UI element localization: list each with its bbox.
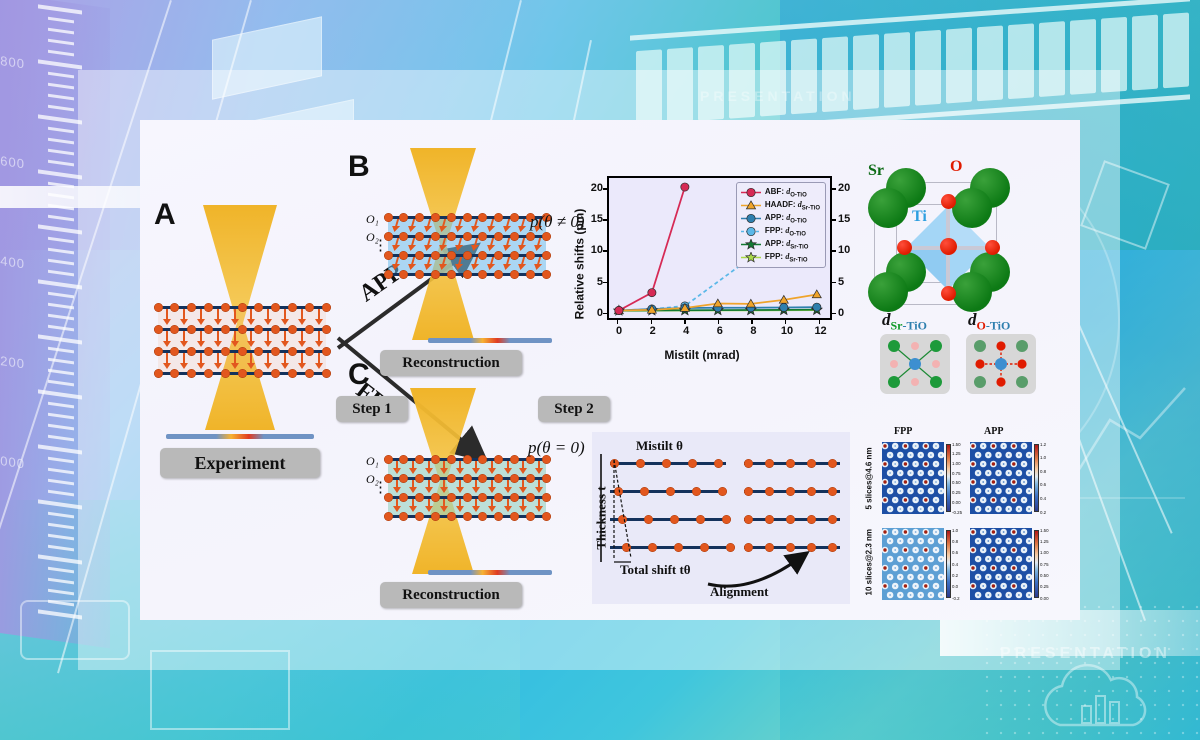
sr-label: Sr <box>868 162 884 180</box>
lattice-atom <box>431 213 440 222</box>
displacement-arrow <box>250 309 252 320</box>
displacement-arrow <box>234 353 236 364</box>
displacement-arrow <box>183 353 185 364</box>
displacement-arrow <box>284 353 286 364</box>
displacement-arrow <box>234 309 236 320</box>
chart-y-tick-right: 5 <box>838 276 854 288</box>
ptycho-row-label-5slices: 5 slices@4.6 nm <box>865 448 874 510</box>
lattice-atom <box>204 347 213 356</box>
lattice-atom <box>221 303 230 312</box>
ptycho-colorbar-tick: -0.25 <box>952 510 962 515</box>
lattice-atom <box>447 270 456 279</box>
chart-data-point <box>812 290 821 298</box>
step2-atom <box>765 487 774 496</box>
displacement-arrow <box>522 499 524 507</box>
step2-mistilt-label: Mistilt θ <box>636 438 683 454</box>
lattice-atom <box>288 369 297 378</box>
chart-x-tickmark <box>785 320 786 324</box>
ptycho-colorbar <box>1034 444 1039 512</box>
lattice-atom <box>542 474 551 483</box>
lattice-atom <box>288 303 297 312</box>
lattice-atom <box>510 512 519 521</box>
ptycho-lattice-render <box>882 528 944 600</box>
background-ruler-number: 2400 <box>0 252 25 272</box>
displacement-arrow <box>507 461 509 469</box>
displacement-arrow <box>166 309 168 320</box>
chart-legend-marker <box>740 187 762 198</box>
displacement-arrow <box>284 309 286 320</box>
o-atom <box>941 194 956 209</box>
chart-data-point <box>813 303 821 311</box>
chart-x-tickmark <box>617 320 618 324</box>
cloud-icon <box>1030 660 1180 740</box>
displacement-arrow <box>538 461 540 469</box>
chart-x-tick: 8 <box>746 325 760 337</box>
ptycho-colorbar-tick: 1.25 <box>952 451 961 456</box>
displacement-arrow <box>166 353 168 364</box>
panel-b-o1-label: O₁ <box>366 212 379 227</box>
chart-legend-marker <box>740 226 762 237</box>
lattice-atom <box>447 455 456 464</box>
ptycho-colorbar-tick: 0.4 <box>952 562 958 567</box>
lattice-atom <box>526 270 535 279</box>
lattice-atom <box>431 251 440 260</box>
lattice-atom <box>463 270 472 279</box>
ptycho-col-title-fpp: FPP <box>894 426 912 437</box>
chart-legend-item: ABF: dO-TiO <box>740 186 820 199</box>
panel-c-probe-state: p(θ = 0) <box>528 438 585 458</box>
chart-legend-label: APP: dSr-TiO <box>765 239 809 251</box>
chart-legend-item: APP: dSr-TiO <box>740 238 820 251</box>
lattice-atom <box>526 512 535 521</box>
chart-x-tickmark <box>718 320 719 324</box>
relative-shifts-chart: Relative shifts (pm) Mistilt (mrad) ABF:… <box>562 168 842 360</box>
ptycho-colorbar-tick: 0.2 <box>1040 510 1046 515</box>
lattice-atom <box>510 474 519 483</box>
step2-shift-guides <box>608 458 648 570</box>
ptycho-colorbar-tick: 0.25 <box>1040 584 1049 589</box>
lattice-atom <box>204 325 213 334</box>
background-ruler-number: 2600 <box>0 152 25 172</box>
displacement-arrow <box>428 480 430 488</box>
lattice-atom <box>305 325 314 334</box>
chart-data-point <box>648 289 656 297</box>
lattice-atom <box>204 303 213 312</box>
ptycho-colorbar-tick: 0.50 <box>952 480 961 485</box>
step2-atom <box>674 543 683 552</box>
chart-y-tick: 5 <box>587 276 603 288</box>
chart-x-tick: 4 <box>679 325 693 337</box>
lattice-atom <box>510 251 519 260</box>
chart-y-tick-right: 20 <box>838 182 854 194</box>
chart-legend-item: HAADF: dSr-TiO <box>740 199 820 212</box>
displacement-arrow <box>267 353 269 364</box>
step2-atom <box>688 459 697 468</box>
chart-y-tickmark-right <box>832 219 836 220</box>
displacement-arrow <box>250 331 252 342</box>
chart-data-point <box>747 227 755 235</box>
lattice-atom <box>447 493 456 502</box>
lattice-atom <box>221 325 230 334</box>
displacement-arrow <box>250 353 252 364</box>
step2-atom <box>765 459 774 468</box>
lattice-atom <box>463 455 472 464</box>
ptycho-colorbar-tick: 1.50 <box>952 442 961 447</box>
lattice-atom <box>238 325 247 334</box>
ptycho-colorbar-tick: 0.8 <box>952 539 958 544</box>
displacement-arrow <box>428 461 430 469</box>
panel-c-ellipsis: ⋮ <box>373 486 390 491</box>
ptycho-colorbar-tick: 0.8 <box>1040 469 1046 474</box>
lattice-atom <box>384 270 393 279</box>
displacement-arrow <box>396 461 398 469</box>
panel-a-caption: Experiment <box>160 448 320 478</box>
chart-y-tick-right: 0 <box>838 307 854 319</box>
ptycho-colorbar-tick: 1.00 <box>952 461 961 466</box>
step2-atom <box>666 487 675 496</box>
displacement-arrow <box>507 480 509 488</box>
step2-atom <box>670 515 679 524</box>
chart-y-tickmark <box>603 282 607 283</box>
background-ruler-number: 2200 <box>0 352 25 372</box>
lattice-atom <box>510 213 519 222</box>
chart-x-tick: 12 <box>814 325 828 337</box>
displacement-arrow <box>491 499 493 507</box>
d-spacing-schematic <box>880 334 950 394</box>
lattice-atom <box>463 232 472 241</box>
step2-atom <box>807 515 816 524</box>
chart-legend-marker <box>740 239 762 250</box>
chart-legend-item: APP: dO-TiO <box>740 212 820 225</box>
lattice-atom <box>447 251 456 260</box>
chart-x-tick: 0 <box>612 325 626 337</box>
chart-legend-marker <box>740 252 762 263</box>
displacement-arrow <box>443 461 445 469</box>
displacement-arrow <box>200 331 202 342</box>
ti-label: Ti <box>912 208 927 226</box>
ptycho-colorbar-tick: 0.00 <box>952 500 961 505</box>
displacement-arrow <box>475 461 477 469</box>
chart-legend-item: FPP: dO-TiO <box>740 225 820 238</box>
lattice-atom <box>204 369 213 378</box>
lattice-atom <box>431 232 440 241</box>
chart-x-tickmark <box>684 320 685 324</box>
chart-legend: ABF: dO-TiOHAADF: dSr-TiOAPP: dO-TiOFPP:… <box>736 182 826 268</box>
ptycho-colorbar-tick: 1.2 <box>1040 442 1046 447</box>
lattice-atom <box>463 251 472 260</box>
step2-atom <box>828 459 837 468</box>
o-label: O <box>950 158 962 176</box>
lattice-atom <box>288 347 297 356</box>
sr-atom <box>868 272 908 312</box>
lattice-atom <box>510 232 519 241</box>
panel-c-letter: C <box>348 358 370 392</box>
displacement-arrow <box>301 309 303 320</box>
displacement-arrow <box>459 480 461 488</box>
displacement-arrow <box>396 499 398 507</box>
displacement-arrow <box>200 309 202 320</box>
o-atom-center <box>940 238 957 255</box>
ptycho-colorbar-tick: 1.50 <box>1040 528 1049 533</box>
ptycho-colorbar-tick: -0.2 <box>952 596 960 601</box>
lattice-atom <box>238 347 247 356</box>
ptycho-colorbar <box>946 530 951 598</box>
panel-c-detector <box>428 570 552 575</box>
lattice-atom <box>526 474 535 483</box>
ptycho-colorbar-tick: 0.4 <box>1040 496 1046 501</box>
chart-x-tick: 10 <box>780 325 794 337</box>
displacement-arrow <box>443 480 445 488</box>
lattice-atom <box>463 512 472 521</box>
lattice-atom <box>447 213 456 222</box>
background-bar <box>1132 15 1158 91</box>
lattice-atom <box>238 369 247 378</box>
lattice-atom <box>384 512 393 521</box>
displacement-arrow <box>318 309 320 320</box>
chart-y-tick-right: 15 <box>838 213 854 225</box>
step2-atom <box>744 515 753 524</box>
displacement-arrow <box>183 331 185 342</box>
displacement-arrow <box>459 461 461 469</box>
ptycho-colorbar-tick: 0.75 <box>1040 562 1049 567</box>
chart-x-tickmark <box>651 320 652 324</box>
ptychography-image-grid: FPP APP 5 slices@4.6 nm 10 slices@2.3 nm… <box>858 428 1054 606</box>
sr-atom <box>952 188 992 228</box>
ptycho-image <box>970 442 1032 514</box>
figure-canvas: 28002600240022002000 PRESENTATION PRESEN… <box>0 0 1200 740</box>
step2-atom <box>696 515 705 524</box>
lattice-atom <box>526 232 535 241</box>
chart-data-point <box>746 252 756 262</box>
displacement-arrow <box>491 480 493 488</box>
ptycho-colorbar-tick: 0.00 <box>1040 596 1049 601</box>
lattice-atom <box>494 512 503 521</box>
lattice-atom <box>221 369 230 378</box>
lattice-atom <box>447 512 456 521</box>
step2-atom <box>662 459 671 468</box>
chart-y-tick: 15 <box>587 213 603 225</box>
displacement-arrow <box>217 309 219 320</box>
lattice-atom <box>288 325 297 334</box>
chart-x-axis-label: Mistilt (mrad) <box>562 348 842 362</box>
ptycho-colorbar-tick: 1.25 <box>1040 539 1049 544</box>
lattice-atom <box>542 232 551 241</box>
chart-x-tickmark <box>819 320 820 324</box>
lattice-atom <box>384 455 393 464</box>
lattice-atom <box>305 303 314 312</box>
ptycho-colorbar-tick: 1.0 <box>1040 455 1046 460</box>
chart-legend-item: FPP: dSr-TiO <box>740 251 820 264</box>
d-spacing-title: dSr-TiO <box>882 310 927 333</box>
ptycho-colorbar-tick: 0.2 <box>952 573 958 578</box>
ptycho-colorbar-tick: 0.6 <box>952 550 958 555</box>
chart-y-tickmark-right <box>832 313 836 314</box>
chart-x-tick: 6 <box>713 325 727 337</box>
displacement-arrow <box>507 499 509 507</box>
ptycho-col-title-app: APP <box>984 426 1003 437</box>
ptycho-colorbar-tick: 1.00 <box>1040 550 1049 555</box>
chart-x-tickmark <box>751 320 752 324</box>
chart-y-tickmark-right <box>832 250 836 251</box>
displacement-arrow <box>217 331 219 342</box>
lattice-atom <box>542 512 551 521</box>
lattice-atom <box>154 303 163 312</box>
chart-y-tick: 20 <box>587 182 603 194</box>
chart-legend-label: HAADF: dSr-TiO <box>765 200 820 212</box>
displacement-arrow <box>217 353 219 364</box>
displacement-arrow <box>318 331 320 342</box>
displacement-arrow <box>538 480 540 488</box>
displacement-arrow <box>183 309 185 320</box>
lattice-atom <box>431 270 440 279</box>
ptycho-image <box>970 528 1032 600</box>
chart-legend-label: ABF: dO-TiO <box>765 187 807 199</box>
ptycho-colorbar-tick: 0.6 <box>1040 482 1046 487</box>
step2-atom <box>828 543 837 552</box>
lattice-atom <box>431 512 440 521</box>
step2-atom <box>828 487 837 496</box>
lattice-atom <box>526 493 535 502</box>
chart-y-tick-right: 10 <box>838 244 854 256</box>
chart-legend-label: FPP: dO-TiO <box>765 226 806 238</box>
displacement-arrow <box>412 499 414 507</box>
d-spacing-title: dO-TiO <box>968 310 1010 333</box>
ptycho-lattice-render <box>882 442 944 514</box>
lattice-atom <box>305 347 314 356</box>
chart-y-tickmark-right <box>832 282 836 283</box>
background-bar <box>1163 12 1189 88</box>
lattice-atom <box>431 493 440 502</box>
sr-atom <box>952 272 992 312</box>
lattice-atom <box>463 213 472 222</box>
displacement-arrow <box>522 461 524 469</box>
chart-y-tickmark <box>603 219 607 220</box>
lattice-atom <box>542 270 551 279</box>
panel-c-caption: Reconstruction <box>380 582 522 608</box>
displacement-arrow <box>412 461 414 469</box>
chart-y-axis-label: Relative shifts (pm) <box>572 209 586 320</box>
chart-data-point <box>746 239 756 249</box>
ptycho-colorbar-tick: 0.50 <box>1040 573 1049 578</box>
step2-atom <box>722 515 731 524</box>
displacement-arrow <box>166 331 168 342</box>
background-ruler-number: 2800 <box>0 52 25 72</box>
chart-legend-marker <box>740 213 762 224</box>
ptycho-image <box>882 442 944 514</box>
lattice-atom <box>447 474 456 483</box>
displacement-arrow <box>318 353 320 364</box>
panel-a-detector <box>166 434 314 439</box>
step2-atom <box>786 459 795 468</box>
lattice-atom <box>431 455 440 464</box>
chart-legend-label: FPP: dSr-TiO <box>765 252 808 264</box>
lattice-atom <box>510 493 519 502</box>
lattice-atom <box>510 455 519 464</box>
displacement-arrow <box>267 331 269 342</box>
step2-atom <box>786 487 795 496</box>
panel-a-letter: A <box>154 198 176 232</box>
displacement-arrow <box>491 461 493 469</box>
displacement-arrow <box>200 353 202 364</box>
chart-y-tickmark <box>603 313 607 314</box>
step2-atom <box>786 515 795 524</box>
chart-y-tickmark <box>603 188 607 189</box>
ptycho-colorbar-tick: 0.25 <box>952 490 961 495</box>
displacement-arrow <box>538 499 540 507</box>
ptycho-lattice-render <box>970 528 1032 600</box>
ptycho-colorbar-tick: 0.75 <box>952 471 961 476</box>
displacement-arrow <box>396 480 398 488</box>
ptycho-colorbar <box>946 444 951 512</box>
lattice-atom <box>154 347 163 356</box>
step2-label: Step 2 <box>538 396 610 422</box>
step2-atom <box>648 543 657 552</box>
lattice-atom <box>154 325 163 334</box>
o-atom <box>941 286 956 301</box>
chart-y-tickmark <box>603 250 607 251</box>
lattice-atom <box>447 232 456 241</box>
chart-y-tick: 10 <box>587 244 603 256</box>
lattice-atom <box>510 270 519 279</box>
displacement-arrow <box>412 480 414 488</box>
lattice-atom <box>463 474 472 483</box>
displacement-arrow <box>475 499 477 507</box>
d-spacing-schematic <box>966 334 1036 394</box>
step2-alignment-diagram: Mistilt θ Thickness t Total shift tθ Ali… <box>592 432 850 604</box>
step2-atom <box>714 459 723 468</box>
o-atom <box>897 240 912 255</box>
chart-y-tick: 0 <box>587 307 603 319</box>
displacement-arrow <box>301 331 303 342</box>
panel-b-ellipsis: ⋮ <box>373 244 390 249</box>
displacement-arrow <box>234 331 236 342</box>
chart-data-point <box>681 183 689 191</box>
displacement-arrow <box>475 480 477 488</box>
chart-data-point <box>780 303 788 311</box>
chart-data-point <box>747 214 755 222</box>
displacement-arrow <box>428 499 430 507</box>
step2-atom <box>744 459 753 468</box>
panel-b-caption: Reconstruction <box>380 350 522 376</box>
lattice-atom <box>431 474 440 483</box>
sr-atom <box>868 188 908 228</box>
chart-plot-area: ABF: dO-TiOHAADF: dSr-TiOAPP: dO-TiOFPP:… <box>607 176 832 320</box>
panel-b-detector <box>428 338 552 343</box>
step2-atom <box>765 515 774 524</box>
ptycho-colorbar <box>1034 530 1039 598</box>
displacement-arrow <box>459 499 461 507</box>
ptycho-colorbar-tick: 1.0 <box>952 528 958 533</box>
o-atom <box>985 240 1000 255</box>
lattice-atom <box>494 270 503 279</box>
chart-x-tick: 2 <box>646 325 660 337</box>
ptycho-colorbar-tick: 0.0 <box>952 584 958 589</box>
displacement-arrow <box>267 309 269 320</box>
thickness-bar <box>600 454 602 562</box>
step2-atom <box>807 487 816 496</box>
step2-atom <box>718 487 727 496</box>
chart-legend-label: APP: dO-TiO <box>765 213 807 225</box>
lattice-atom <box>305 369 314 378</box>
displacement-arrow <box>443 499 445 507</box>
lattice-atom <box>526 251 535 260</box>
lattice-atom <box>542 493 551 502</box>
step2-atom <box>828 515 837 524</box>
lattice-atom <box>238 303 247 312</box>
displacement-arrow <box>284 331 286 342</box>
panel-c-o1-label: O₁ <box>366 454 379 469</box>
ptycho-image <box>882 528 944 600</box>
